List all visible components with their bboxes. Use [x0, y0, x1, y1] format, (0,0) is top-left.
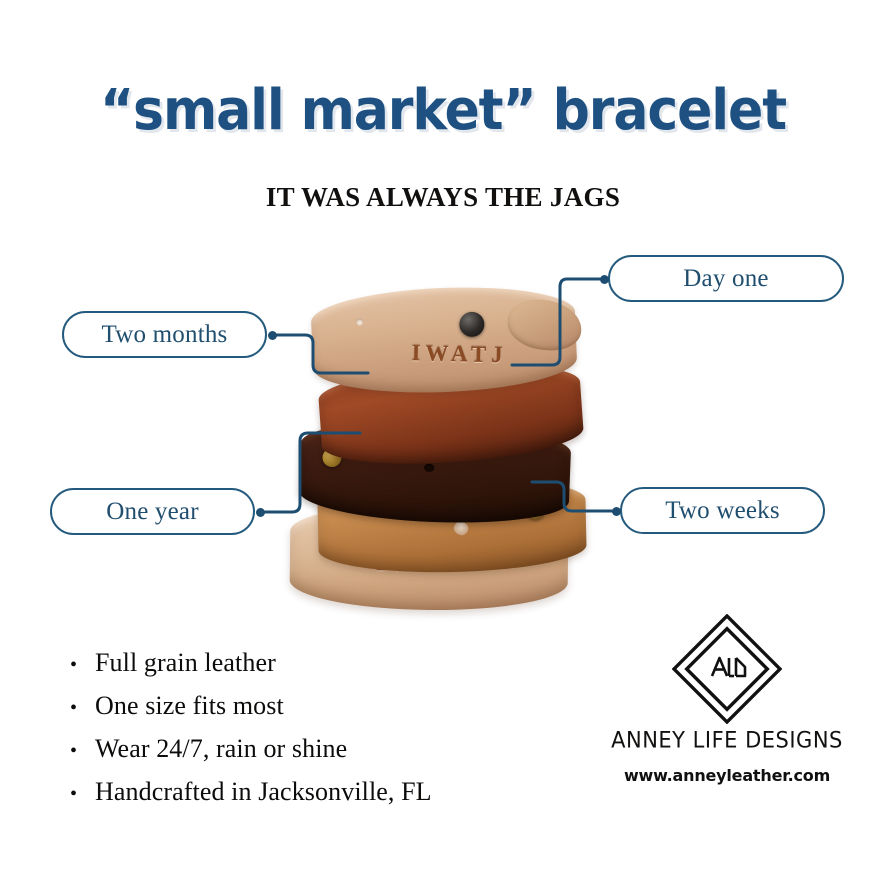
connector-dot-day-one: [600, 275, 609, 284]
connector-dot-two-weeks: [612, 507, 621, 516]
callout-label: One year: [106, 498, 199, 526]
connector-dot-one-year: [256, 508, 265, 517]
callout-label: Two weeks: [665, 497, 780, 525]
callout-label: Two months: [102, 321, 228, 349]
connector-dot-two-months: [268, 331, 277, 340]
callout-one-year[interactable]: One year: [50, 488, 255, 535]
callout-connectors: [0, 0, 886, 886]
callout-day-one[interactable]: Day one: [608, 255, 844, 302]
callout-two-weeks[interactable]: Two weeks: [620, 487, 825, 534]
callout-two-months[interactable]: Two months: [62, 311, 267, 358]
infographic-canvas: “small market” bracelet IT WAS ALWAYS TH…: [0, 0, 886, 886]
callout-label: Day one: [683, 265, 768, 293]
